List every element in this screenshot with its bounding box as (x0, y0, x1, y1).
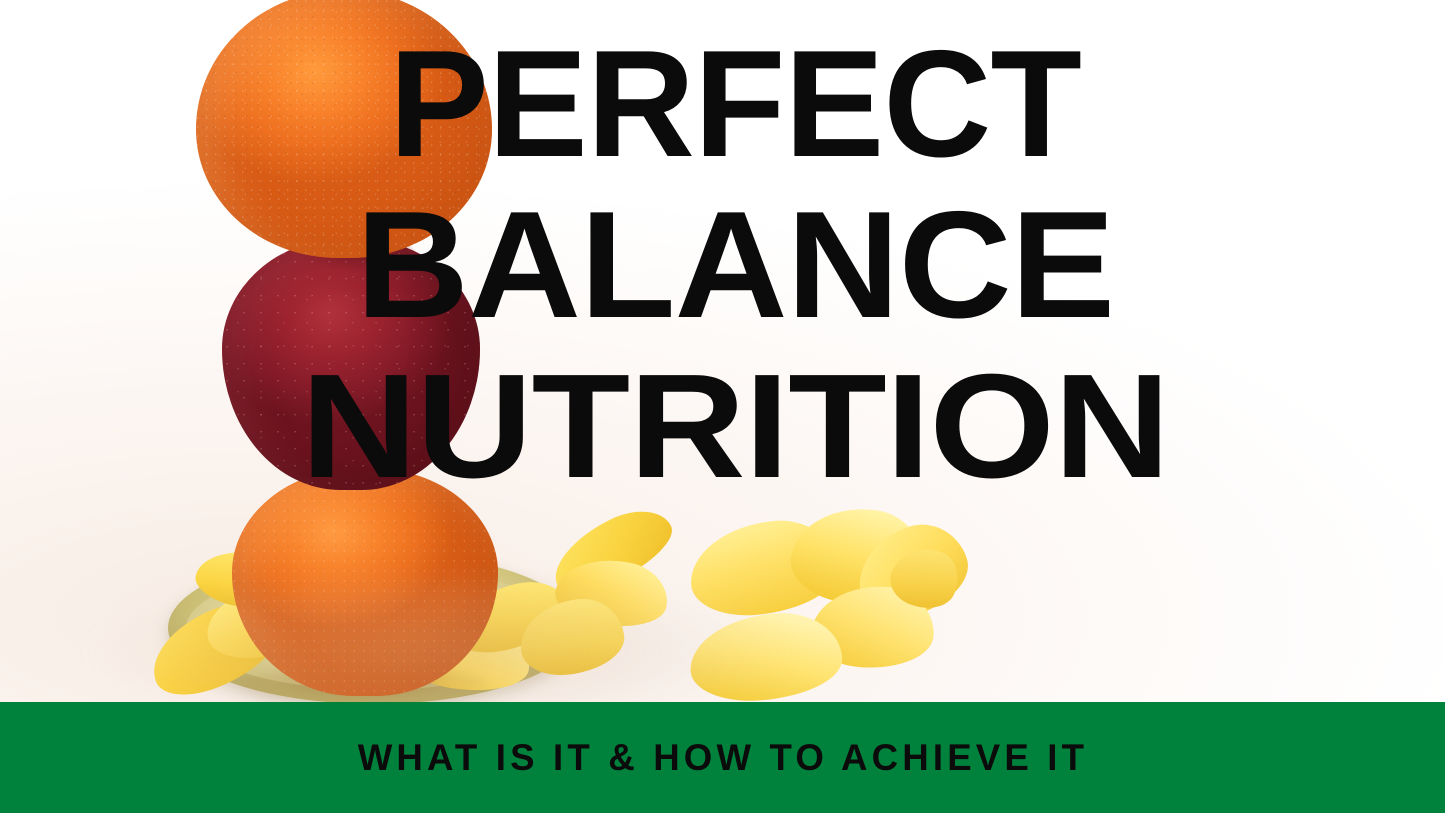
poster-canvas: PERFECT BALANCE NUTRITION WHAT IS IT & H… (0, 0, 1445, 813)
fruit-shadow (238, 664, 490, 702)
hero-photo (0, 0, 1445, 702)
orange-bottom-shape (232, 468, 498, 696)
red-apple-shape (222, 238, 480, 490)
rose-petal (446, 573, 575, 662)
rose-petal (202, 578, 329, 664)
rose-petal (542, 497, 682, 605)
rose-petal (516, 595, 627, 679)
plate-shape (168, 552, 580, 702)
rose-petal (139, 590, 289, 702)
rose-petal (551, 551, 673, 635)
rose-petal (688, 610, 844, 702)
rose-petal (400, 616, 534, 699)
subtitle-text: WHAT IS IT & HOW TO ACHIEVE IT (357, 737, 1087, 779)
orange-top-shape (196, 0, 492, 258)
subtitle-banner: WHAT IS IT & HOW TO ACHIEVE IT (0, 702, 1445, 813)
plate-rim-shape (186, 566, 562, 690)
